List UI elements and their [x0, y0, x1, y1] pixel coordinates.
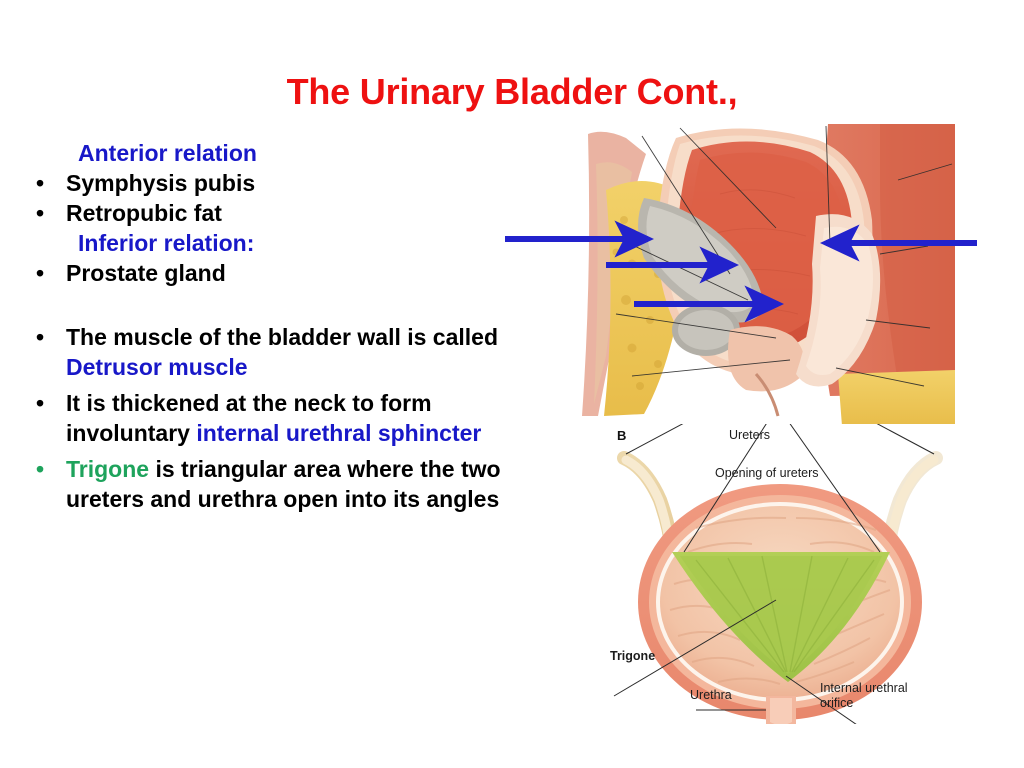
content-spacer	[36, 288, 536, 322]
list-item-label: Trigone is triangular area where the two…	[66, 454, 536, 514]
list-item-prostate-gland: • Prostate gland	[36, 258, 536, 288]
bladder-interior-illustration	[600, 424, 960, 724]
leader-opening-right	[786, 424, 880, 552]
leader-ureter-right	[814, 424, 934, 454]
trigone-region	[672, 552, 890, 682]
list-item-label: Prostate gland	[66, 258, 536, 288]
leader-opening-left	[684, 424, 770, 552]
bullet-marker-icon: •	[36, 388, 66, 418]
leader-trigone	[614, 600, 776, 696]
ureter-right	[888, 458, 936, 552]
figure-panel-letter: B	[617, 428, 626, 443]
label-ureters: Ureters	[729, 428, 770, 442]
bullet-marker-icon: •	[36, 454, 66, 484]
leader-internal-orifice	[786, 676, 876, 724]
list-item-detrusor-muscle: • The muscle of the bladder wall is call…	[36, 322, 536, 382]
list-item-label: The muscle of the bladder wall is called…	[66, 322, 536, 382]
detrusor-sentence-lead: The muscle of the bladder wall is called	[66, 324, 498, 350]
label-urethra: Urethra	[690, 688, 732, 702]
list-item-label: Retropubic fat	[66, 198, 536, 228]
bladder-mucosa	[660, 506, 900, 698]
list-item-retropubic-fat: • Retropubic fat	[36, 198, 536, 228]
bullet-marker-icon: •	[36, 258, 66, 288]
term-trigone: Trigone	[66, 456, 149, 482]
heading-anterior-relation: Anterior relation	[36, 138, 536, 168]
list-item-internal-urethral-sphincter: • It is thickened at the neck to form in…	[36, 388, 536, 448]
content-column: Anterior relation • Symphysis pubis • Re…	[36, 138, 536, 514]
list-item-label: Symphysis pubis	[66, 168, 536, 198]
sagittal-section-illustration	[580, 124, 955, 426]
label-trigone: Trigone	[610, 649, 655, 663]
list-item-label: It is thickened at the neck to form invo…	[66, 388, 536, 448]
page-title: The Urinary Bladder Cont.,	[0, 72, 1024, 112]
figure-bladder-interior	[600, 424, 960, 724]
bladder-wall	[638, 484, 922, 720]
label-opening-of-ureters: Opening of ureters	[715, 466, 819, 480]
figure-source-caption-faint	[612, 706, 942, 718]
heading-inferior-relation: Inferior relation:	[36, 228, 536, 258]
bullet-marker-icon: •	[36, 198, 66, 228]
term-internal-urethral-sphincter: internal urethral sphincter	[196, 420, 481, 446]
urethra-opening	[766, 696, 796, 724]
label-internal-urethral-orifice: Internal urethral orifice	[820, 681, 930, 711]
ureter-left	[624, 458, 672, 552]
figure-sagittal-pelvis	[580, 124, 955, 426]
list-item-symphysis-pubis: • Symphysis pubis	[36, 168, 536, 198]
term-detrusor-muscle: Detrusor muscle	[66, 354, 248, 380]
bullet-marker-icon: •	[36, 322, 66, 352]
leader-ureter-left	[626, 424, 746, 454]
list-item-trigone: • Trigone is triangular area where the t…	[36, 454, 536, 514]
bullet-marker-icon: •	[36, 168, 66, 198]
